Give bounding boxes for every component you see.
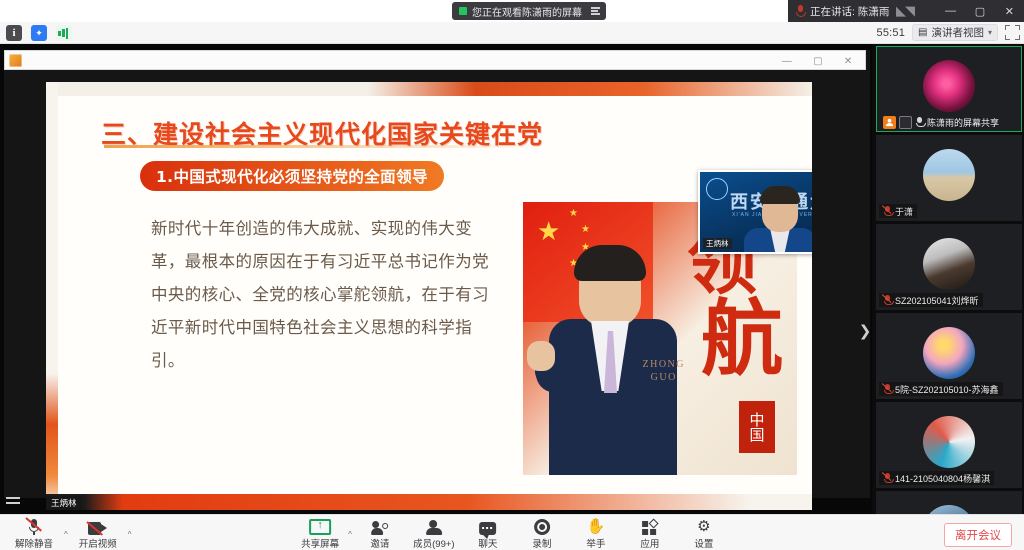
start-video-button[interactable]: 开启视频	[72, 517, 124, 550]
presenter-name-label: 王炳林	[703, 238, 732, 249]
list-menu-icon[interactable]	[6, 492, 24, 508]
invite-icon	[371, 517, 388, 535]
video-options-chevron[interactable]: ^	[128, 530, 132, 550]
share-screen-label: 共享屏幕	[301, 536, 339, 550]
view-mode-label: 演讲者视图	[931, 25, 984, 40]
invite-button[interactable]: 邀请	[354, 517, 406, 550]
record-label: 录制	[532, 536, 551, 550]
share-screen-button[interactable]: 共享屏幕	[294, 517, 346, 550]
participant-name: 141-2105040804杨馨淇	[895, 472, 990, 485]
window-controls: — ▢ ✕	[936, 0, 1024, 22]
unmute-button[interactable]: 解除静音	[8, 517, 60, 550]
slide-title-underline	[104, 145, 544, 148]
chevron-right-icon[interactable]: ❯	[858, 322, 872, 340]
secondary-toolbar: i ✦ 55:51 ▤ 演讲者视图 ▾	[0, 22, 1024, 44]
active-speaker-label: 正在讲话: 陈潇雨	[810, 4, 889, 19]
shield-icon[interactable]: ✦	[31, 25, 47, 41]
participant-label: 陈潇雨的屏幕共享	[879, 115, 1003, 129]
participant-name: 于潇	[895, 205, 913, 218]
meeting-toolbar: 解除静音 ^ 开启视频 ^ 共享屏幕 ^ 邀请	[0, 514, 1024, 550]
slide-photo-seal: 中国	[739, 401, 775, 453]
participant-label: 5院-SZ202105010-苏海鑫	[879, 382, 1003, 396]
participants-icon	[426, 517, 442, 535]
minimize-button[interactable]: —	[938, 0, 964, 22]
mic-muted-icon	[883, 206, 892, 217]
mic-on-icon	[915, 117, 924, 128]
slide-subtitle-pill: 1.中国式现代化必须坚持党的全面领导	[140, 161, 444, 191]
participant-tile[interactable]: SZ202105041刘烨昕	[876, 224, 1022, 310]
university-logo-icon	[706, 178, 728, 200]
screen-share-icon	[899, 116, 912, 129]
unmute-label: 解除静音	[15, 536, 53, 550]
leave-meeting-button[interactable]: 离开会议	[944, 523, 1012, 547]
raise-hand-label: 举手	[586, 536, 605, 550]
presentation-slide: 三、建设社会主义现代化国家关键在党 1.中国式现代化必须坚持党的全面领导 新时代…	[46, 82, 812, 510]
chat-icon	[479, 517, 496, 535]
audio-options-chevron[interactable]: ^	[64, 530, 68, 550]
zoom-meeting-window: 您正在观看陈潇雨的屏幕 正在讲话: 陈潇雨 ◣◥ — ▢ ✕ i ✦ 55:51…	[0, 0, 1024, 550]
slide-bottom-decoration	[46, 494, 812, 510]
flag-star-1: ★	[569, 208, 578, 219]
settings-button[interactable]: ⚙ 设置	[678, 517, 730, 550]
active-speaker-bar[interactable]: 正在讲话: 陈潇雨 ◣◥	[788, 0, 936, 22]
host-badge-icon	[883, 116, 896, 129]
screen-share-status-dot	[459, 7, 467, 15]
info-icon[interactable]: i	[6, 25, 22, 41]
main-toolbar-actions: 共享屏幕 ^ 邀请 成员(99+) 聊天 录制 ✋ 举手	[294, 517, 730, 550]
mic-muted-icon	[883, 295, 892, 306]
watching-screen-label: 您正在观看陈潇雨的屏幕	[472, 4, 582, 19]
mic-muted-icon	[883, 473, 892, 484]
audio-video-controls: 解除静音 ^ 开启视频 ^	[8, 517, 132, 550]
participant-tile[interactable]: 141-2105040804杨馨淇	[876, 402, 1022, 488]
watching-screen-banner[interactable]: 您正在观看陈潇雨的屏幕	[452, 2, 606, 20]
avatar	[923, 60, 975, 112]
fullscreen-icon[interactable]	[1005, 25, 1020, 40]
sound-wave-icon: ◣◥	[896, 3, 914, 19]
slide-left-decoration	[46, 82, 58, 510]
shared-close-button[interactable]: ✕	[844, 56, 852, 67]
maximize-button[interactable]: ▢	[967, 0, 993, 22]
start-video-label: 开启视频	[79, 536, 117, 550]
presenter-video-overlay: 西安交通大学 XI'AN JIAOTONG UNIVERSITY 王炳林	[698, 170, 812, 254]
participant-rail: 陈潇雨的屏幕共享 于潇 SZ202105041刘烨昕 5院-SZ20210501…	[874, 44, 1024, 514]
mic-muted-icon	[883, 384, 892, 395]
invite-label: 邀请	[370, 536, 389, 550]
record-button[interactable]: 录制	[516, 517, 568, 550]
shared-window-controls: — ▢ ✕	[771, 51, 863, 71]
participant-name: 5院-SZ202105010-苏海鑫	[895, 383, 999, 396]
slide-photo-char-2: 航	[701, 298, 783, 380]
view-mode-button[interactable]: ▤ 演讲者视图 ▾	[912, 24, 998, 41]
chevron-down-icon[interactable]: ▾	[988, 28, 992, 37]
participants-button[interactable]: 成员(99+)	[408, 517, 460, 550]
shared-screen-area: — ▢ ✕ 三、建设社会主义现代化国家关键在党 1.中国式现代化必须坚持党的全面…	[0, 44, 872, 514]
flag-star-2: ★	[581, 224, 590, 235]
camera-off-icon	[88, 517, 107, 535]
record-icon	[534, 517, 550, 535]
chat-button[interactable]: 聊天	[462, 517, 514, 550]
participant-name: SZ202105041刘烨昕	[895, 294, 979, 307]
layout-icon: ▤	[918, 27, 927, 38]
apps-icon	[642, 517, 658, 535]
participant-tile[interactable]: 陈潇雨的屏幕共享	[876, 46, 1022, 132]
share-screen-icon	[309, 517, 331, 535]
avatar	[923, 149, 975, 201]
participants-label: 成员(99+)	[413, 536, 454, 550]
participant-label: 141-2105040804杨馨淇	[879, 471, 994, 485]
apps-button[interactable]: 应用	[624, 517, 676, 550]
shared-application-window: — ▢ ✕ 三、建设社会主义现代化国家关键在党 1.中国式现代化必须坚持党的全面…	[4, 50, 870, 498]
view-controls-group: 55:51 ▤ 演讲者视图 ▾	[877, 24, 1021, 41]
avatar	[923, 416, 975, 468]
participant-label: 于潇	[879, 204, 917, 218]
signal-bars-icon[interactable]	[56, 25, 72, 41]
ppt-app-icon	[9, 54, 22, 67]
slide-name-tag: 王炳林	[46, 496, 82, 510]
pinyin-line-2: GUO	[643, 371, 686, 384]
participant-tile[interactable]: 于潇	[876, 135, 1022, 221]
close-button[interactable]: ✕	[996, 0, 1022, 22]
participant-label: SZ202105041刘烨昕	[879, 293, 983, 307]
settings-label: 设置	[694, 536, 713, 550]
hamburger-icon[interactable]	[591, 7, 600, 15]
slide-body-text: 新时代十年创造的伟大成就、实现的伟大变革，最根本的原因在于有习近平总书记作为党中…	[151, 212, 491, 377]
slide-photo-pinyin: ZHONG GUO	[643, 358, 686, 384]
share-options-chevron[interactable]: ^	[348, 530, 352, 550]
participant-tile[interactable]: 5院-SZ202105010-苏海鑫	[876, 313, 1022, 399]
meeting-timer: 55:51	[877, 27, 906, 39]
shared-window-titlebar: — ▢ ✕	[4, 50, 866, 70]
status-icons-group: i ✦	[6, 25, 72, 41]
mic-muted-icon	[27, 517, 41, 535]
apps-label: 应用	[640, 536, 659, 550]
raise-hand-button[interactable]: ✋ 举手	[570, 517, 622, 550]
shared-maximize-button[interactable]: ▢	[813, 56, 822, 67]
settings-gear-icon: ⚙	[697, 517, 710, 535]
pinyin-line-1: ZHONG	[643, 358, 686, 371]
shared-minimize-button[interactable]: —	[782, 56, 792, 67]
raise-hand-icon: ✋	[587, 517, 606, 535]
avatar	[923, 238, 975, 290]
participant-name: 陈潇雨的屏幕共享	[927, 116, 999, 129]
flag-star-large: ★	[537, 216, 560, 247]
avatar	[923, 327, 975, 379]
slide-top-decoration	[46, 82, 812, 96]
mic-icon	[795, 5, 805, 17]
